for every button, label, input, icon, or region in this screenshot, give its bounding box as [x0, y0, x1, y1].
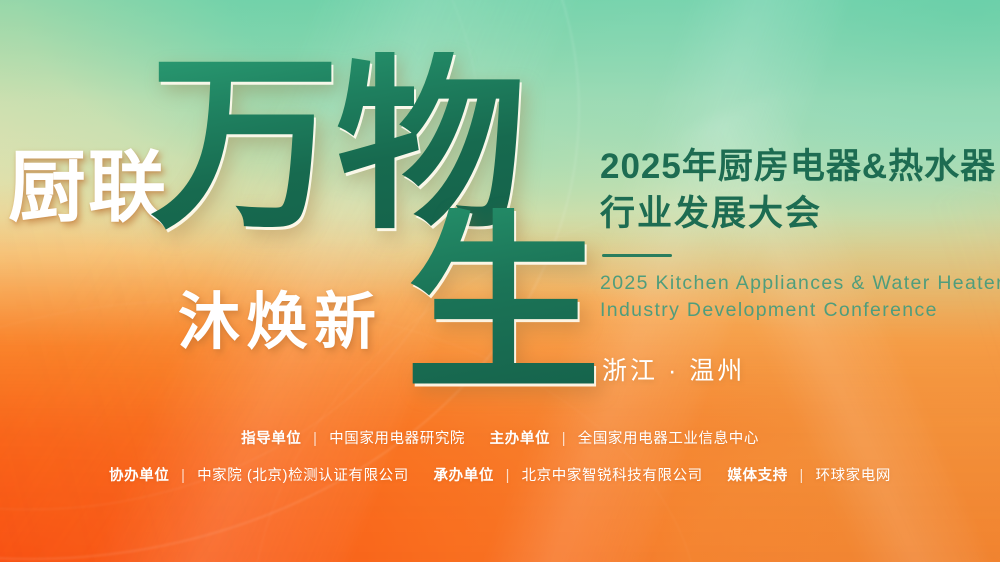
conference-poster: 厨联 万物 生 沐焕新 2025年厨房电器&热水器 行业发展大会 2025 Ki… — [0, 0, 1000, 562]
conference-location: 浙江 · 温州 — [602, 351, 1000, 387]
conference-title-cn: 2025年厨房电器&热水器 行业发展大会 — [600, 144, 1000, 238]
credit-org: 全国家用电器工业信息中心 — [578, 431, 759, 447]
credit-role: 协办单位 — [109, 468, 169, 484]
conference-title-cn-line1: 2025年厨房电器&热水器 — [600, 144, 1000, 191]
credit-role: 指导单位 — [241, 431, 301, 447]
credit-group: 主办单位 | 全国家用电器工业信息中心 — [490, 426, 759, 452]
credit-org: 中家院 (北京)检测认证有限公司 — [197, 468, 409, 484]
credit-role: 主办单位 — [490, 431, 550, 447]
credit-separator: | — [313, 426, 317, 452]
credit-group: 指导单位 | 中国家用电器研究院 — [241, 426, 465, 452]
credit-group: 承办单位 | 北京中家智锐科技有限公司 — [434, 463, 703, 489]
conference-info-block: 2025年厨房电器&热水器 行业发展大会 2025 Kitchen Applia… — [600, 144, 1000, 387]
credit-row: 指导单位 | 中国家用电器研究院 主办单位 | 全国家用电器工业信息中心 — [0, 426, 1000, 452]
conference-title-en-line2: Industry Development Conference — [600, 297, 1000, 325]
brand-prefix-chulian: 厨联 — [8, 148, 168, 226]
hero-headline-sheng: 生 — [405, 208, 601, 404]
credit-org: 北京中家智锐科技有限公司 — [522, 468, 703, 484]
credit-separator: | — [506, 463, 510, 489]
credit-separator: | — [562, 426, 566, 452]
brand-subline-muhuanxin: 沐焕新 — [178, 292, 382, 354]
credit-separator: | — [181, 463, 185, 489]
credit-group: 媒体支持 | 环球家电网 — [727, 463, 891, 489]
credit-row: 协办单位 | 中家院 (北京)检测认证有限公司 承办单位 | 北京中家智锐科技有… — [0, 463, 1000, 489]
title-divider — [602, 254, 672, 257]
brand-lockup: 厨联 万物 生 沐焕新 — [0, 0, 600, 420]
credit-org: 环球家电网 — [815, 468, 891, 484]
credit-group: 协办单位 | 中家院 (北京)检测认证有限公司 — [109, 463, 409, 489]
conference-title-cn-line2: 行业发展大会 — [600, 191, 1000, 238]
credit-org: 中国家用电器研究院 — [329, 431, 465, 447]
organiser-credits: 指导单位 | 中国家用电器研究院 主办单位 | 全国家用电器工业信息中心 协办单… — [0, 426, 1000, 489]
conference-title-en-line1: 2025 Kitchen Appliances & Water Heater — [600, 270, 1000, 298]
credit-role: 承办单位 — [434, 468, 494, 484]
conference-title-en: 2025 Kitchen Appliances & Water Heater I… — [600, 270, 1000, 325]
credit-role: 媒体支持 — [727, 468, 787, 484]
credit-separator: | — [799, 463, 803, 489]
